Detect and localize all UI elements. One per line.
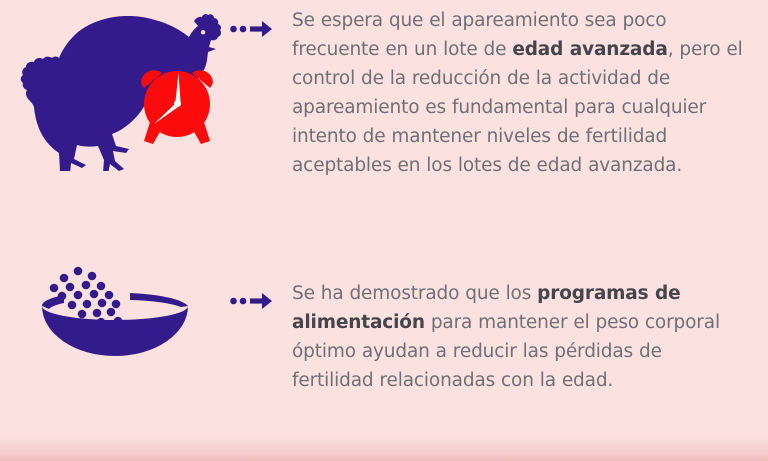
bottom-gradient-band <box>0 435 768 461</box>
bullet-paragraph-1: Se espera que el apareamiento sea poco f… <box>292 6 744 180</box>
bullet-paragraph-2: Se ha demostrado que los programas de al… <box>292 279 744 395</box>
bullet-row-1: Se espera que el apareamiento sea poco f… <box>0 6 744 180</box>
dashed-arrow-icon <box>230 290 274 312</box>
bowl-with-feed-icon <box>30 260 200 380</box>
bullet-arrow-2 <box>230 248 292 312</box>
alarm-clock-icon <box>132 56 222 148</box>
infographic-slide: Se espera que el apareamiento sea poco f… <box>0 0 768 461</box>
bullet-arrow-1 <box>230 6 292 40</box>
feed-bowl-icon <box>0 248 230 380</box>
bullet-row-2: Se ha demostrado que los programas de al… <box>0 248 744 395</box>
hen-with-alarm-clock-icon <box>0 6 230 171</box>
bullet-text-1: Se espera que el apareamiento sea poco f… <box>292 6 744 180</box>
dashed-arrow-icon <box>230 18 274 40</box>
bullet-text-2: Se ha demostrado que los programas de al… <box>292 248 744 395</box>
